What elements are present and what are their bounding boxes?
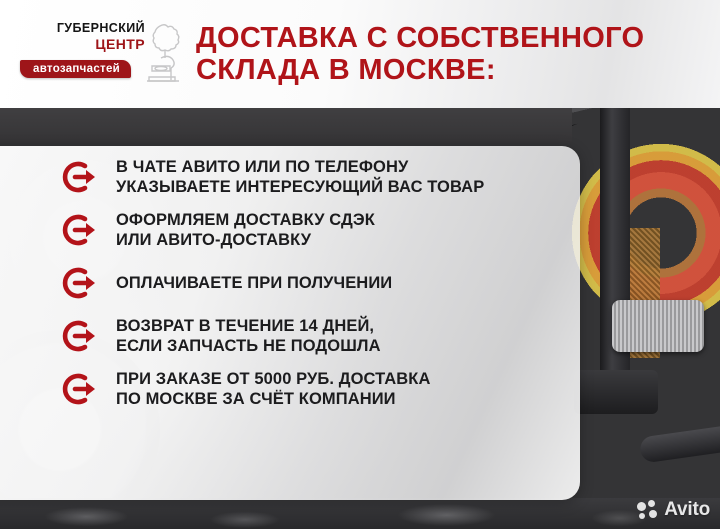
microscope-icon [141, 22, 187, 88]
arc-arrow-right-icon [60, 210, 100, 250]
arc-arrow-right-icon [60, 369, 100, 409]
list-item-label: ОПЛАЧИВАЕТЕ ПРИ ПОЛУЧЕНИИ [116, 273, 392, 293]
benefits-panel: В ЧАТЕ АВИТО ИЛИ ПО ТЕЛЕФОНУ УКАЗЫВАЕТЕ … [0, 146, 580, 500]
benefits-list: В ЧАТЕ АВИТО ИЛИ ПО ТЕЛЕФОНУ УКАЗЫВАЕТЕ … [60, 156, 566, 421]
arc-arrow-right-icon [60, 263, 100, 303]
list-item: ОФОРМЛЯЕМ ДОСТАВКУ СДЭК ИЛИ АВИТО-ДОСТАВ… [60, 209, 566, 251]
background-knurled-part [612, 300, 704, 352]
logo-wordmark: ГУБЕРНСКИЙ ЦЕНТР [57, 22, 145, 52]
logo-line-2: ЦЕНТР [57, 36, 145, 52]
list-item-label: В ЧАТЕ АВИТО ИЛИ ПО ТЕЛЕФОНУ УКАЗЫВАЕТЕ … [116, 157, 484, 197]
avito-wordmark: Avito [664, 499, 710, 521]
arc-arrow-right-icon [60, 316, 100, 356]
page-title: ДОСТАВКА С СОБСТВЕННОГО СКЛАДА В МОСКВЕ: [196, 22, 696, 87]
list-item: В ЧАТЕ АВИТО ИЛИ ПО ТЕЛЕФОНУ УКАЗЫВАЕТЕ … [60, 156, 566, 198]
list-item-label: ОФОРМЛЯЕМ ДОСТАВКУ СДЭК ИЛИ АВИТО-ДОСТАВ… [116, 210, 375, 250]
background-bottom-parts [0, 498, 720, 529]
list-item: ПРИ ЗАКАЗЕ ОТ 5000 РУБ. ДОСТАВКА ПО МОСК… [60, 368, 566, 410]
background-shock-absorber [600, 100, 630, 400]
list-item-label: ВОЗВРАТ В ТЕЧЕНИЕ 14 ДНЕЙ, ЕСЛИ ЗАПЧАСТЬ… [116, 316, 381, 356]
avito-watermark: Avito [637, 499, 710, 521]
avito-dots-icon [637, 500, 659, 520]
list-item: ОПЛАЧИВАЕТЕ ПРИ ПОЛУЧЕНИИ [60, 262, 566, 304]
logo-line-1: ГУБЕРНСКИЙ [57, 22, 145, 35]
logo-banner-label: автозапчастей [20, 60, 131, 78]
divider-band [0, 108, 572, 143]
arc-arrow-right-icon [60, 157, 100, 197]
background-shock-base [574, 370, 658, 414]
list-item: ВОЗВРАТ В ТЕЧЕНИЕ 14 ДНЕЙ, ЕСЛИ ЗАПЧАСТЬ… [60, 315, 566, 357]
header-bar: ГУБЕРНСКИЙ ЦЕНТР автозапчастей ДОСТАВКА … [0, 0, 720, 108]
company-logo: ГУБЕРНСКИЙ ЦЕНТР автозапчастей [28, 22, 183, 88]
advertisement-banner: ГУБЕРНСКИЙ ЦЕНТР автозапчастей ДОСТАВКА … [0, 0, 720, 529]
list-item-label: ПРИ ЗАКАЗЕ ОТ 5000 РУБ. ДОСТАВКА ПО МОСК… [116, 369, 431, 409]
